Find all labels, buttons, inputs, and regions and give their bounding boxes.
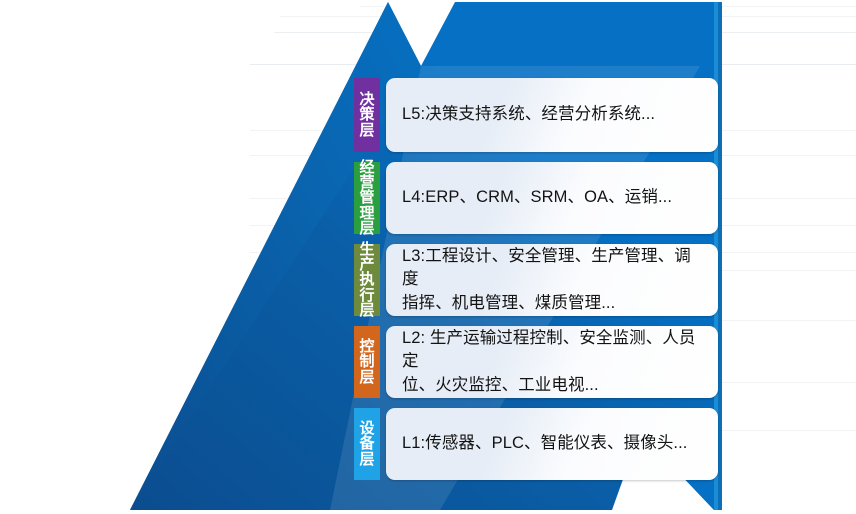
tab-char: 层: [359, 221, 374, 236]
level-card-text-l2: L2: 生产运输过程控制、安全监测、人员定 位、火灾监控、工业电视...: [402, 327, 702, 397]
tab-char: 行: [359, 288, 374, 303]
level-card-l2[interactable]: L2: 生产运输过程控制、安全监测、人员定 位、火灾监控、工业电视...: [386, 326, 718, 398]
tab-char: 层: [359, 123, 374, 138]
level-card-text-l1: L1:传感器、PLC、智能仪表、摄像头...: [402, 432, 688, 455]
level-rows: 决 策 层 L5:决策支持系统、经营分析系统... 经 营 管 理 层 L4:E…: [0, 0, 856, 514]
level-row-l5[interactable]: 决 策 层 L5:决策支持系统、经营分析系统...: [354, 78, 718, 152]
level-row-l3[interactable]: 生 产 执 行 层 L3:工程设计、安全管理、生产管理、调度 指挥、机电管理、煤…: [354, 244, 718, 316]
level-tab-l2: 控 制 层: [354, 326, 380, 398]
level-card-text-l3: L3:工程设计、安全管理、生产管理、调度 指挥、机电管理、煤质管理...: [402, 245, 702, 315]
tab-char: 经: [359, 160, 374, 175]
level-tab-l1: 设 备 层: [354, 408, 380, 480]
tab-char: 理: [359, 206, 374, 221]
level-tab-l5: 决 策 层: [354, 78, 380, 152]
pyramid-diagram-canvas: 决 策 层 L5:决策支持系统、经营分析系统... 经 营 管 理 层 L4:E…: [0, 0, 856, 514]
level-card-text-l5: L5:决策支持系统、经营分析系统...: [402, 103, 655, 126]
level-card-l5[interactable]: L5:决策支持系统、经营分析系统...: [386, 78, 718, 152]
tab-char: 制: [359, 354, 374, 369]
level-card-l3[interactable]: L3:工程设计、安全管理、生产管理、调度 指挥、机电管理、煤质管理...: [386, 244, 718, 316]
level-row-l4[interactable]: 经 营 管 理 层 L4:ERP、CRM、SRM、OA、运销...: [354, 162, 718, 234]
level-tab-l3: 生 产 执 行 层: [354, 244, 380, 316]
tab-char: 层: [359, 370, 374, 385]
level-row-l2[interactable]: 控 制 层 L2: 生产运输过程控制、安全监测、人员定 位、火灾监控、工业电视.…: [354, 326, 718, 398]
level-tab-l4: 经 营 管 理 层: [354, 162, 380, 234]
tab-char: 管: [359, 190, 374, 205]
tab-char: 策: [359, 107, 374, 122]
level-card-l4[interactable]: L4:ERP、CRM、SRM、OA、运销...: [386, 162, 718, 234]
tab-char: 执: [359, 272, 374, 287]
tab-char: 生: [359, 242, 374, 257]
level-row-l1[interactable]: 设 备 层 L1:传感器、PLC、智能仪表、摄像头...: [354, 408, 718, 480]
level-card-l1[interactable]: L1:传感器、PLC、智能仪表、摄像头...: [386, 408, 718, 480]
tab-char: 层: [359, 303, 374, 318]
tab-char: 备: [359, 436, 374, 451]
level-card-text-l4: L4:ERP、CRM、SRM、OA、运销...: [402, 186, 672, 209]
tab-char: 层: [359, 452, 374, 467]
